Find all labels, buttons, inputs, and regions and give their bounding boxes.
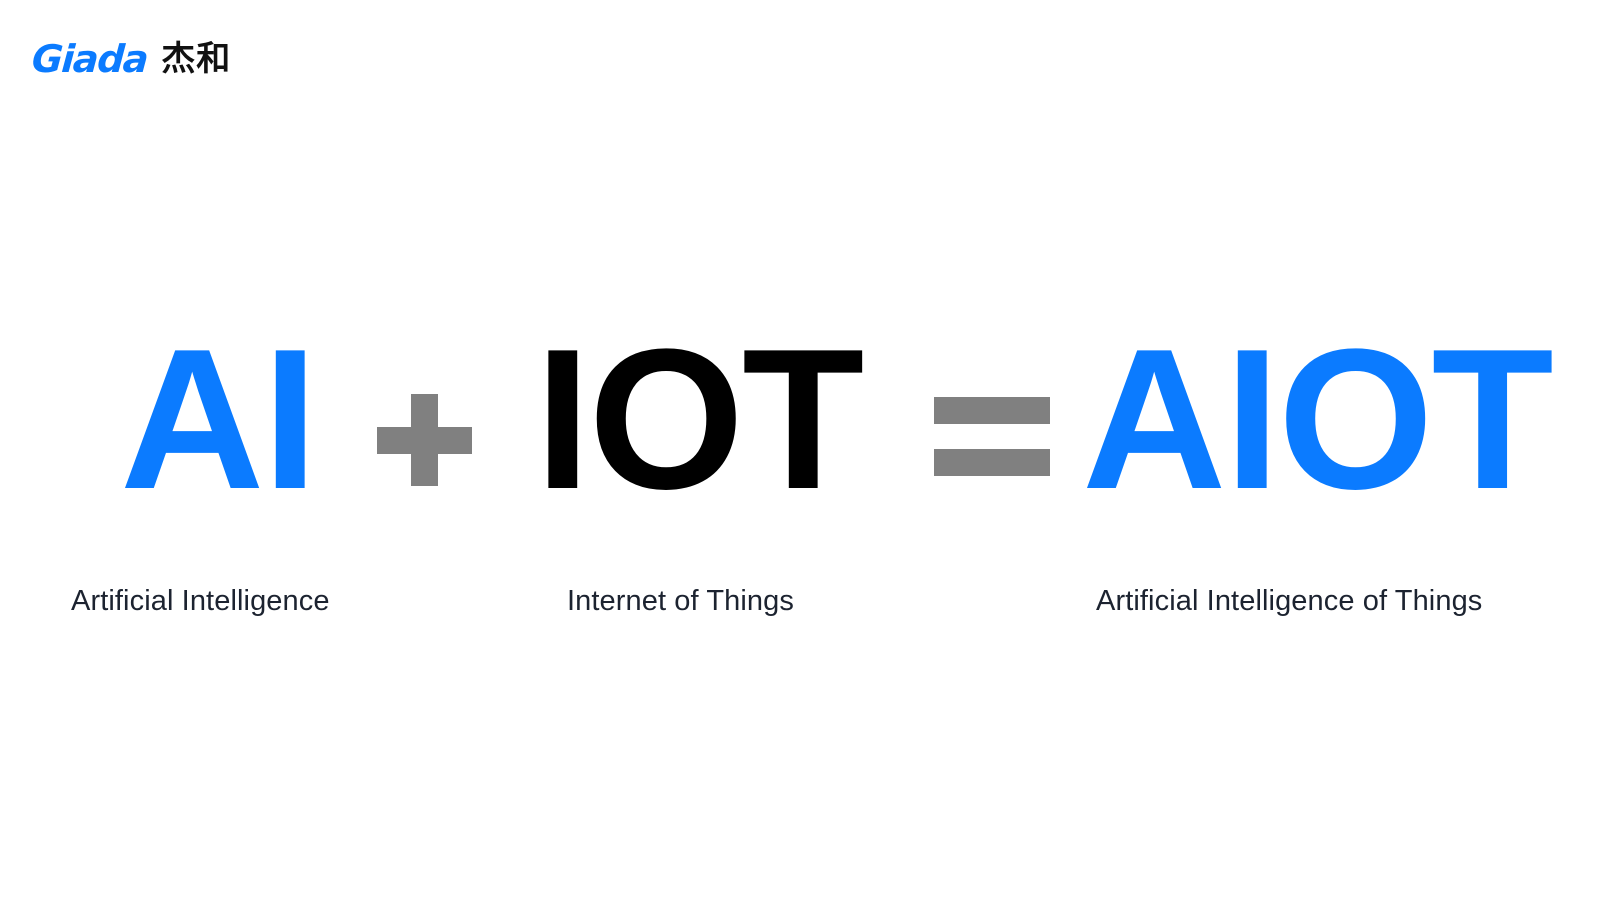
equation-row: AI IOT AIOT xyxy=(0,0,1600,200)
plus-vertical-bar xyxy=(411,394,438,486)
equals-top-bar xyxy=(934,397,1050,424)
plus-operator-icon xyxy=(377,394,472,486)
equation-term-aiot: AIOT xyxy=(1082,320,1552,520)
caption-iot: Internet of Things xyxy=(567,583,794,619)
equals-bottom-bar xyxy=(934,449,1050,476)
equation-term-ai: AI xyxy=(120,320,316,520)
caption-ai: Artificial Intelligence xyxy=(71,583,330,619)
caption-aiot: Artificial Intelligence of Things xyxy=(1096,583,1482,619)
slide-canvas: Giada 杰和 AI IOT AIOT Artificial Intellig… xyxy=(0,0,1600,900)
equals-operator-icon xyxy=(934,397,1050,476)
equation-term-iot: IOT xyxy=(535,320,862,520)
